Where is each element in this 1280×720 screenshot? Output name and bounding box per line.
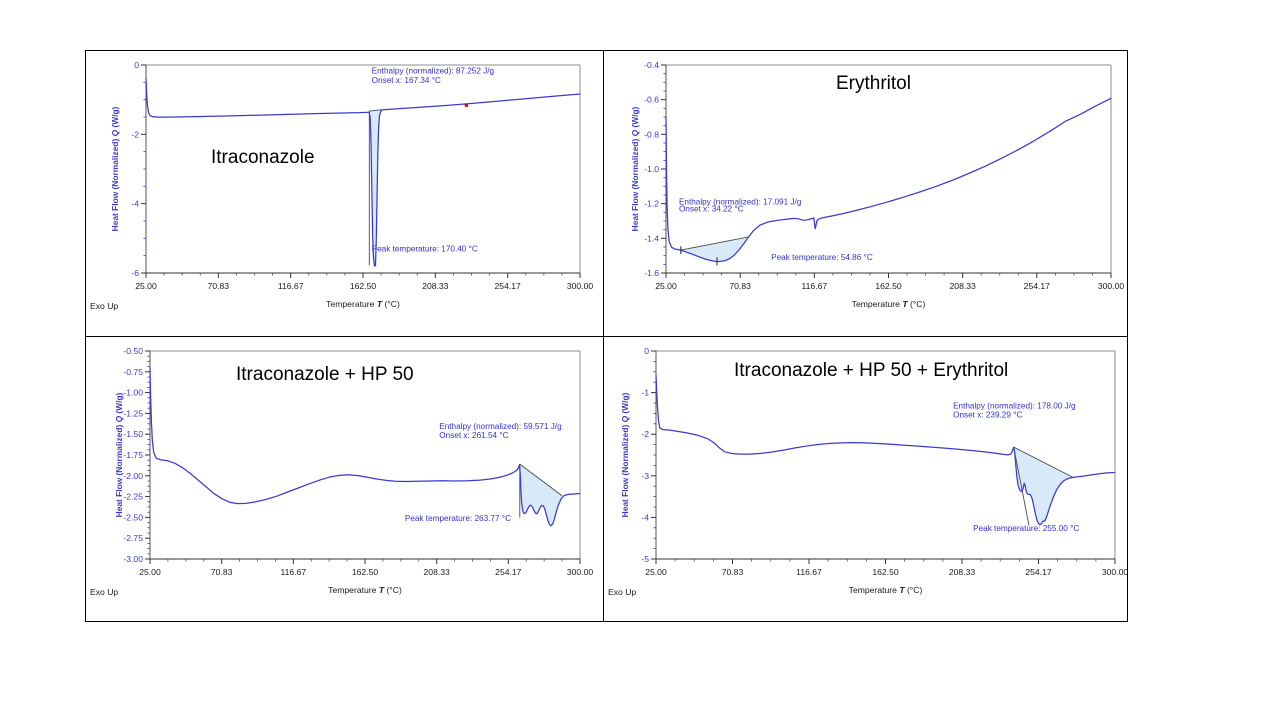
- x-tick-label: 25.00: [645, 567, 667, 577]
- x-tick-label: 25.00: [655, 281, 677, 291]
- exo-up-label: Exo Up: [608, 587, 636, 597]
- enthalpy-annotation: Enthalpy (normalized): 87.252 J/g: [372, 67, 495, 76]
- panel-title: Itraconazole + HP 50 + Erythritol: [734, 360, 1008, 382]
- y-tick-label: -4: [641, 512, 649, 522]
- y-tick-label: -2.25: [123, 492, 143, 502]
- plot-frame: [146, 65, 580, 273]
- y-tick-label: -3: [641, 471, 649, 481]
- x-tick-label: 70.83: [729, 281, 751, 291]
- y-tick-label: -2: [641, 429, 649, 439]
- enthalpy-annotation: Enthalpy (normalized): 59.571 J/g: [439, 422, 562, 431]
- x-tick-label: 300.00: [1102, 567, 1127, 577]
- x-tick-label: 162.50: [872, 567, 899, 577]
- x-tick-label: 116.67: [802, 281, 828, 291]
- x-axis: 25.0070.83116.67162.50208.33254.17300.00: [645, 559, 1127, 577]
- onset-annotation: Onset x: 167.34 °C: [372, 76, 441, 85]
- y-axis: 0-1-2-3-4-5: [641, 346, 656, 564]
- peak-annotation: Peak temperature: 170.40 °C: [372, 245, 478, 254]
- x-tick-label: 162.50: [875, 281, 902, 291]
- y-tick-label: -1.50: [123, 429, 143, 439]
- onset-annotation: Onset x: 261.54 °C: [439, 431, 508, 440]
- y-axis-label: Heat Flow (Normalized) Q (W/g): [110, 106, 120, 231]
- x-tick-label: 116.67: [281, 567, 307, 577]
- y-tick-label: -1.4: [644, 233, 659, 243]
- y-axis: 0-2-4-6: [131, 60, 146, 278]
- x-tick-label: 254.17: [1025, 567, 1052, 577]
- x-tick-label: 70.83: [211, 567, 233, 577]
- peak-annotation: Peak temperature: 255.00 °C: [973, 524, 1079, 533]
- x-axis-label: Temperature T (°C): [326, 299, 400, 309]
- y-tick-label: -1.0: [644, 164, 659, 174]
- y-tick-label: -2.00: [123, 471, 143, 481]
- data-point-marker: [465, 104, 468, 107]
- dsc-figure: 25.0070.83116.67162.50208.33254.17300.00…: [85, 50, 1128, 622]
- panel-itraconazole-hp50-erythritol: 25.0070.83116.67162.50208.33254.17300.00…: [604, 337, 1127, 621]
- panel-erythritol: 25.0070.83116.67162.50208.33254.17300.00…: [604, 51, 1127, 337]
- enthalpy-fill: [1014, 447, 1074, 525]
- y-tick-label: -2: [131, 129, 139, 139]
- y-tick-label: -0.8: [644, 129, 659, 139]
- x-tick-label: 70.83: [208, 281, 230, 291]
- x-tick-label: 300.00: [567, 567, 594, 577]
- x-tick-label: 116.67: [796, 567, 822, 577]
- x-tick-label: 208.33: [424, 567, 451, 577]
- y-axis: -0.50-0.75-1.00-1.25-1.50-1.75-2.00-2.25…: [123, 346, 150, 564]
- panel-title: Itraconazole: [211, 147, 315, 169]
- y-tick-label: -2.50: [123, 512, 143, 522]
- x-axis: 25.0070.83116.67162.50208.33254.17300.00: [655, 273, 1124, 291]
- y-axis-label: Heat Flow (Normalized) Q (W/g): [114, 392, 124, 517]
- y-tick-label: -0.4: [644, 60, 659, 70]
- y-tick-label: -1.2: [644, 199, 659, 209]
- panel-title: Itraconazole + HP 50: [236, 364, 414, 386]
- exo-up-label: Exo Up: [90, 301, 118, 311]
- exo-up-label: Exo Up: [90, 587, 118, 597]
- y-axis-label: Heat Flow (Normalized) Q (W/g): [620, 392, 630, 517]
- y-tick-label: -5: [641, 554, 649, 564]
- x-tick-label: 300.00: [567, 281, 594, 291]
- y-tick-label: -2.75: [123, 533, 143, 543]
- x-axis-label: Temperature T (°C): [328, 585, 402, 595]
- y-tick-label: -0.50: [123, 346, 143, 356]
- y-tick-label: -0.6: [644, 95, 659, 105]
- x-tick-label: 25.00: [139, 567, 161, 577]
- y-tick-label: -4: [131, 199, 139, 209]
- onset-annotation: Onset x: 239.29 °C: [953, 411, 1022, 420]
- y-tick-label: 0: [644, 346, 649, 356]
- y-tick-label: -1: [641, 388, 649, 398]
- y-tick-label: -1.75: [123, 450, 143, 460]
- y-tick-label: -1.25: [123, 408, 143, 418]
- x-axis-label: Temperature T (°C): [849, 585, 923, 595]
- x-tick-label: 25.00: [135, 281, 157, 291]
- y-tick-label: -1.00: [123, 388, 143, 398]
- peak-annotation: Peak temperature: 263.77 °C: [405, 514, 511, 523]
- y-tick-label: -3.00: [123, 554, 143, 564]
- x-axis-label: Temperature T (°C): [852, 299, 926, 309]
- annotations: Enthalpy (normalized): 87.252 J/gOnset x…: [372, 67, 495, 254]
- x-tick-label: 162.50: [352, 567, 379, 577]
- x-tick-label: 162.50: [350, 281, 377, 291]
- x-axis: 25.0070.83116.67162.50208.33254.17300.00: [135, 273, 593, 291]
- x-tick-label: 208.33: [950, 281, 977, 291]
- panel-itraconazole-hp50: 25.0070.83116.67162.50208.33254.17300.00…: [86, 337, 604, 621]
- panel-itraconazole: 25.0070.83116.67162.50208.33254.17300.00…: [86, 51, 604, 337]
- onset-annotation: Onset x: 34.22 °C: [679, 204, 744, 213]
- x-tick-label: 208.33: [422, 281, 449, 291]
- enthalpy-annotation: Enthalpy (normalized): 178.00 J/g: [953, 401, 1076, 410]
- panel-title: Erythritol: [836, 73, 911, 95]
- dsc-curve: [146, 79, 580, 266]
- x-tick-label: 254.17: [495, 281, 522, 291]
- x-tick-label: 300.00: [1098, 281, 1125, 291]
- dsc-curve: [666, 98, 1111, 261]
- y-axis: -0.4-0.6-0.8-1.0-1.2-1.4-1.6: [644, 60, 666, 278]
- x-tick-label: 254.17: [1024, 281, 1051, 291]
- x-axis: 25.0070.83116.67162.50208.33254.17300.00: [139, 559, 593, 577]
- y-tick-label: -6: [131, 268, 139, 278]
- y-tick-label: -1.6: [644, 268, 659, 278]
- dsc-curve: [150, 368, 580, 526]
- x-tick-label: 208.33: [949, 567, 976, 577]
- y-tick-label: 0: [134, 60, 139, 70]
- peak-annotation: Peak temperature: 54.86 °C: [771, 253, 873, 262]
- x-tick-label: 70.83: [722, 567, 744, 577]
- y-tick-label: -0.75: [123, 367, 143, 377]
- x-tick-label: 254.17: [495, 567, 522, 577]
- y-axis-label: Heat Flow (Normalized) Q (W/g): [630, 106, 640, 231]
- enthalpy-fill: [681, 237, 749, 262]
- x-tick-label: 116.67: [278, 281, 304, 291]
